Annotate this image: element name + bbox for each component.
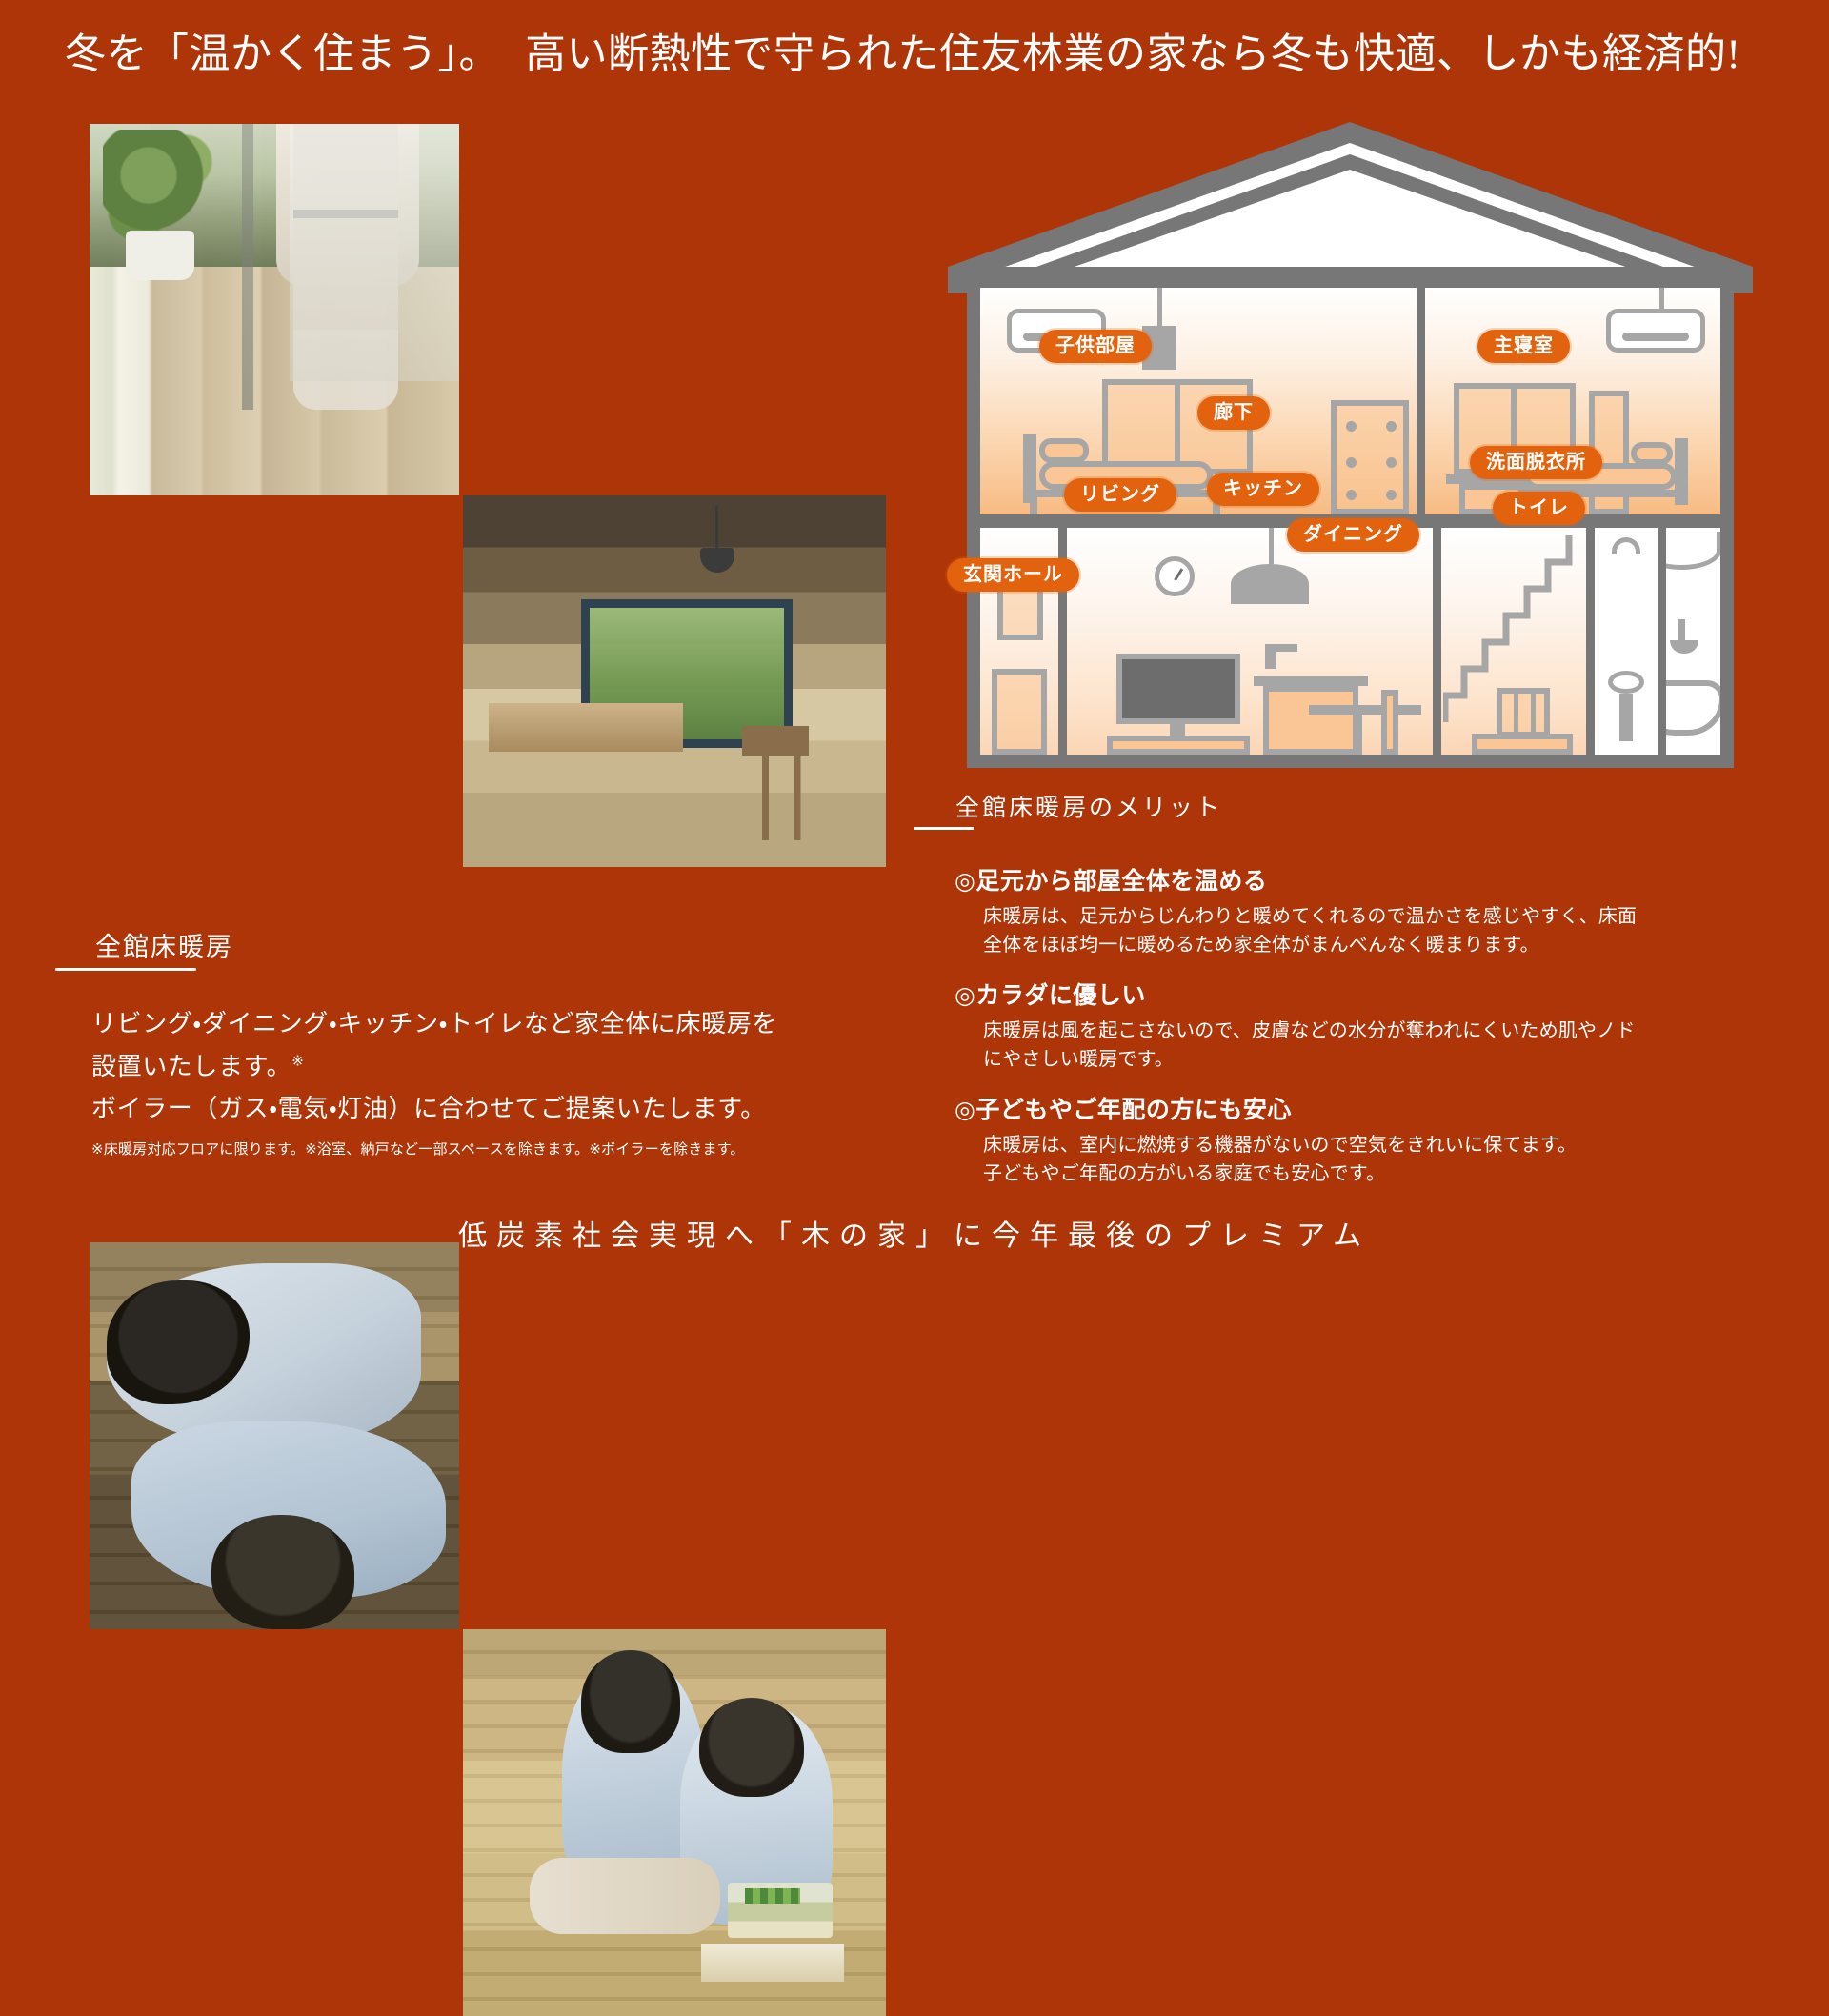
merit-title-rule (914, 827, 974, 830)
page-headline: 冬を「温かく住まう」。高い断熱性で守られた住友林業の家なら冬も快適、しかも経済的… (65, 21, 1740, 80)
photo-dining-chair (742, 726, 809, 840)
photo-parent-and-child-on-floor (90, 1242, 459, 1629)
headline-part1: 冬を「温かく住まう」。 (65, 32, 500, 77)
merit-body-line: 全体をほぼ均一に暖めるため家全体がまんべんなく暖まります。 (983, 931, 1764, 959)
photo-picture-book (701, 1944, 844, 1982)
photo-collage (90, 124, 886, 886)
merit-heading: ◎子どもやご年配の方にも安心 (955, 1096, 1764, 1124)
merit-body-line: 子どもやご年配の方がいる家庭でも安心です。 (983, 1159, 1764, 1188)
bed-pillow (1631, 442, 1673, 465)
bathtub (1666, 680, 1720, 736)
bed-leg (1030, 497, 1037, 514)
merit-item: ◎足元から部屋全体を温める 床暖房は、足元からじんわりと暖めてくれるので温かさを… (955, 867, 1764, 960)
toilet-tank (1612, 537, 1640, 554)
floor-lower (980, 528, 1720, 755)
photo-boy-hair (699, 1698, 804, 1797)
photo-door-frame (242, 124, 253, 410)
room-living-dining-kitchen (1067, 528, 1433, 755)
merit-body: 床暖房は、足元からじんわりと暖めてくれるので温かさを感じやすく、床面 全体をほぼ… (983, 902, 1764, 960)
closet-knob (1346, 490, 1357, 500)
room-shushinshitsu (1425, 288, 1720, 514)
photo-terrace-wood-floor (90, 124, 459, 495)
tv-board (1107, 736, 1250, 755)
footer-tagline: 低炭素社会実現へ「木の家」に今年最後のプレミアム (0, 1212, 1829, 1254)
faucet-spout (1265, 644, 1297, 652)
photo-child-hair (211, 1515, 354, 1629)
pendant-lamp-icon (1231, 564, 1309, 604)
shelf-divider (1175, 379, 1180, 474)
closet-knob (1346, 421, 1357, 432)
photo-toy (728, 1883, 833, 1938)
left-body-footnote-mark: ※ (291, 1053, 304, 1069)
photo-plant-pot (126, 231, 194, 280)
pendant-cord (1157, 288, 1162, 326)
room-rouka (1323, 288, 1417, 514)
room-toilet (1595, 528, 1658, 755)
tag-dining: ダイニング (1287, 518, 1419, 552)
kitchen-cabinet (1263, 686, 1358, 755)
merit-body: 床暖房は風を起こさないので、皮膚などの水分が奪われにくいため肌やノド にやさしい… (983, 1017, 1764, 1075)
left-body-line3: ボイラー（ガス・電気・灯油）に合わせてご提案いたします。 (91, 1087, 815, 1130)
left-footnotes: ※床暖房対応フロアに限ります。※浴室、納戸など一部スペースを除きます。※ボイラー… (91, 1139, 873, 1159)
tag-kodomo-beya: 子供部屋 (1039, 330, 1152, 363)
sideboard (1472, 734, 1573, 755)
closet-knob (1386, 457, 1397, 468)
photo-person-legs (293, 124, 398, 410)
closet-unit (1331, 400, 1409, 514)
photo-person-coat (276, 124, 419, 286)
shelf-divider (1514, 688, 1518, 737)
merit-heading: ◎カラダに優しい (955, 981, 1764, 1010)
photo-bare-feet (530, 1858, 720, 1934)
shoe-cabinet (992, 669, 1047, 755)
room-senmen-datsuijo (1666, 528, 1720, 755)
dining-chair (1381, 690, 1398, 755)
kitchen-counter-top (1254, 676, 1368, 686)
pendant-cord (1269, 528, 1274, 564)
tag-kitchen: キッチン (1207, 473, 1319, 506)
dining-table-leg (1353, 715, 1362, 755)
photo-pendant-lamp (700, 548, 734, 573)
roof (948, 122, 1753, 293)
merit-body: 床暖房は、室内に燃焼する機器がないので空気をきれいに保てます。 子どもやご年配の… (983, 1131, 1764, 1189)
television (1116, 654, 1240, 724)
merit-body-line: 床暖房は風を起こさないので、皮膚などの水分が奪われにくいため肌やノド (983, 1017, 1764, 1045)
merit-list: ◎足元から部屋全体を温める 床暖房は、足元からじんわりと暖めてくれるので温かさを… (955, 867, 1764, 1209)
left-body-line2-text: 設置いたします。 (91, 1052, 291, 1080)
wall-clock-icon (1155, 556, 1195, 596)
washbasin (1666, 532, 1720, 570)
toilet-base (1619, 694, 1633, 741)
photo-kitchen-counter (489, 703, 683, 752)
merit-item: ◎子どもやご年配の方にも安心 床暖房は、室内に燃焼する機器がないので空気をきれい… (955, 1096, 1764, 1189)
interior-wall (1658, 528, 1666, 755)
room-stairs (1441, 528, 1586, 755)
left-caption: 全館床暖房 (95, 926, 233, 963)
headline-part2: 高い断熱性で守られた住友林業の家なら冬も快適、しかも経済的! (525, 32, 1740, 77)
photo-living-dining-interior (463, 495, 886, 867)
photo-children-playing (463, 1629, 886, 2016)
shelf-divider (1531, 688, 1536, 737)
merit-body-line: にやさしい暖房です。 (983, 1045, 1764, 1074)
merit-title: 全館床暖房のメリット (955, 789, 1222, 823)
merit-item: ◎カラダに優しい 床暖房は風を起こさないので、皮膚などの水分が奪われにくいため肌… (955, 981, 1764, 1075)
tag-senmen-datsuijo: 洗面脱衣所 (1470, 446, 1602, 479)
house-cross-section-diagram: 子供部屋 廊下 主寝室 玄関ホール リビング キッチン ダイニング 洗面脱衣所 … (948, 122, 1753, 770)
merit-body-line: 床暖房は、室内に燃焼する機器がないので空気をきれいに保てます。 (983, 1131, 1764, 1159)
closet-knob (1386, 490, 1397, 500)
tag-rouka: 廊下 (1197, 396, 1270, 430)
closet-knob (1346, 457, 1357, 468)
shower-head-icon (1670, 640, 1698, 654)
tag-genkan-hall: 玄関ホール (947, 558, 1079, 592)
tag-living: リビング (1064, 478, 1176, 512)
toilet-seat (1608, 671, 1644, 694)
storage-shelf (1497, 688, 1550, 737)
photo-girl-hair (581, 1650, 680, 1753)
bed-pillow (1039, 438, 1089, 463)
left-body-line1: リビング・ダイニング・キッチン・トイレなど家全体に床暖房を (91, 1002, 815, 1045)
tag-shushinshitsu: 主寝室 (1477, 330, 1570, 363)
interior-wall (1417, 288, 1425, 514)
tag-toilet: トイレ (1493, 492, 1585, 525)
air-conditioner-icon (1606, 309, 1705, 353)
interior-wall (1433, 528, 1441, 755)
left-caption-rule (55, 968, 196, 971)
interior-wall (1586, 528, 1595, 755)
photo-plant (103, 130, 217, 244)
dining-table-top (1309, 705, 1421, 715)
merit-body-line: 床暖房は、足元からじんわりと暖めてくれるので温かさを感じやすく、床面 (983, 902, 1764, 931)
left-body-text: リビング・ダイニング・キッチン・トイレなど家全体に床暖房を 設置いたします。※ … (91, 1002, 815, 1130)
left-body-line2: 設置いたします。※ (91, 1045, 815, 1088)
closet-knob (1386, 421, 1397, 432)
merit-heading: ◎足元から部屋全体を温める (955, 867, 1764, 896)
